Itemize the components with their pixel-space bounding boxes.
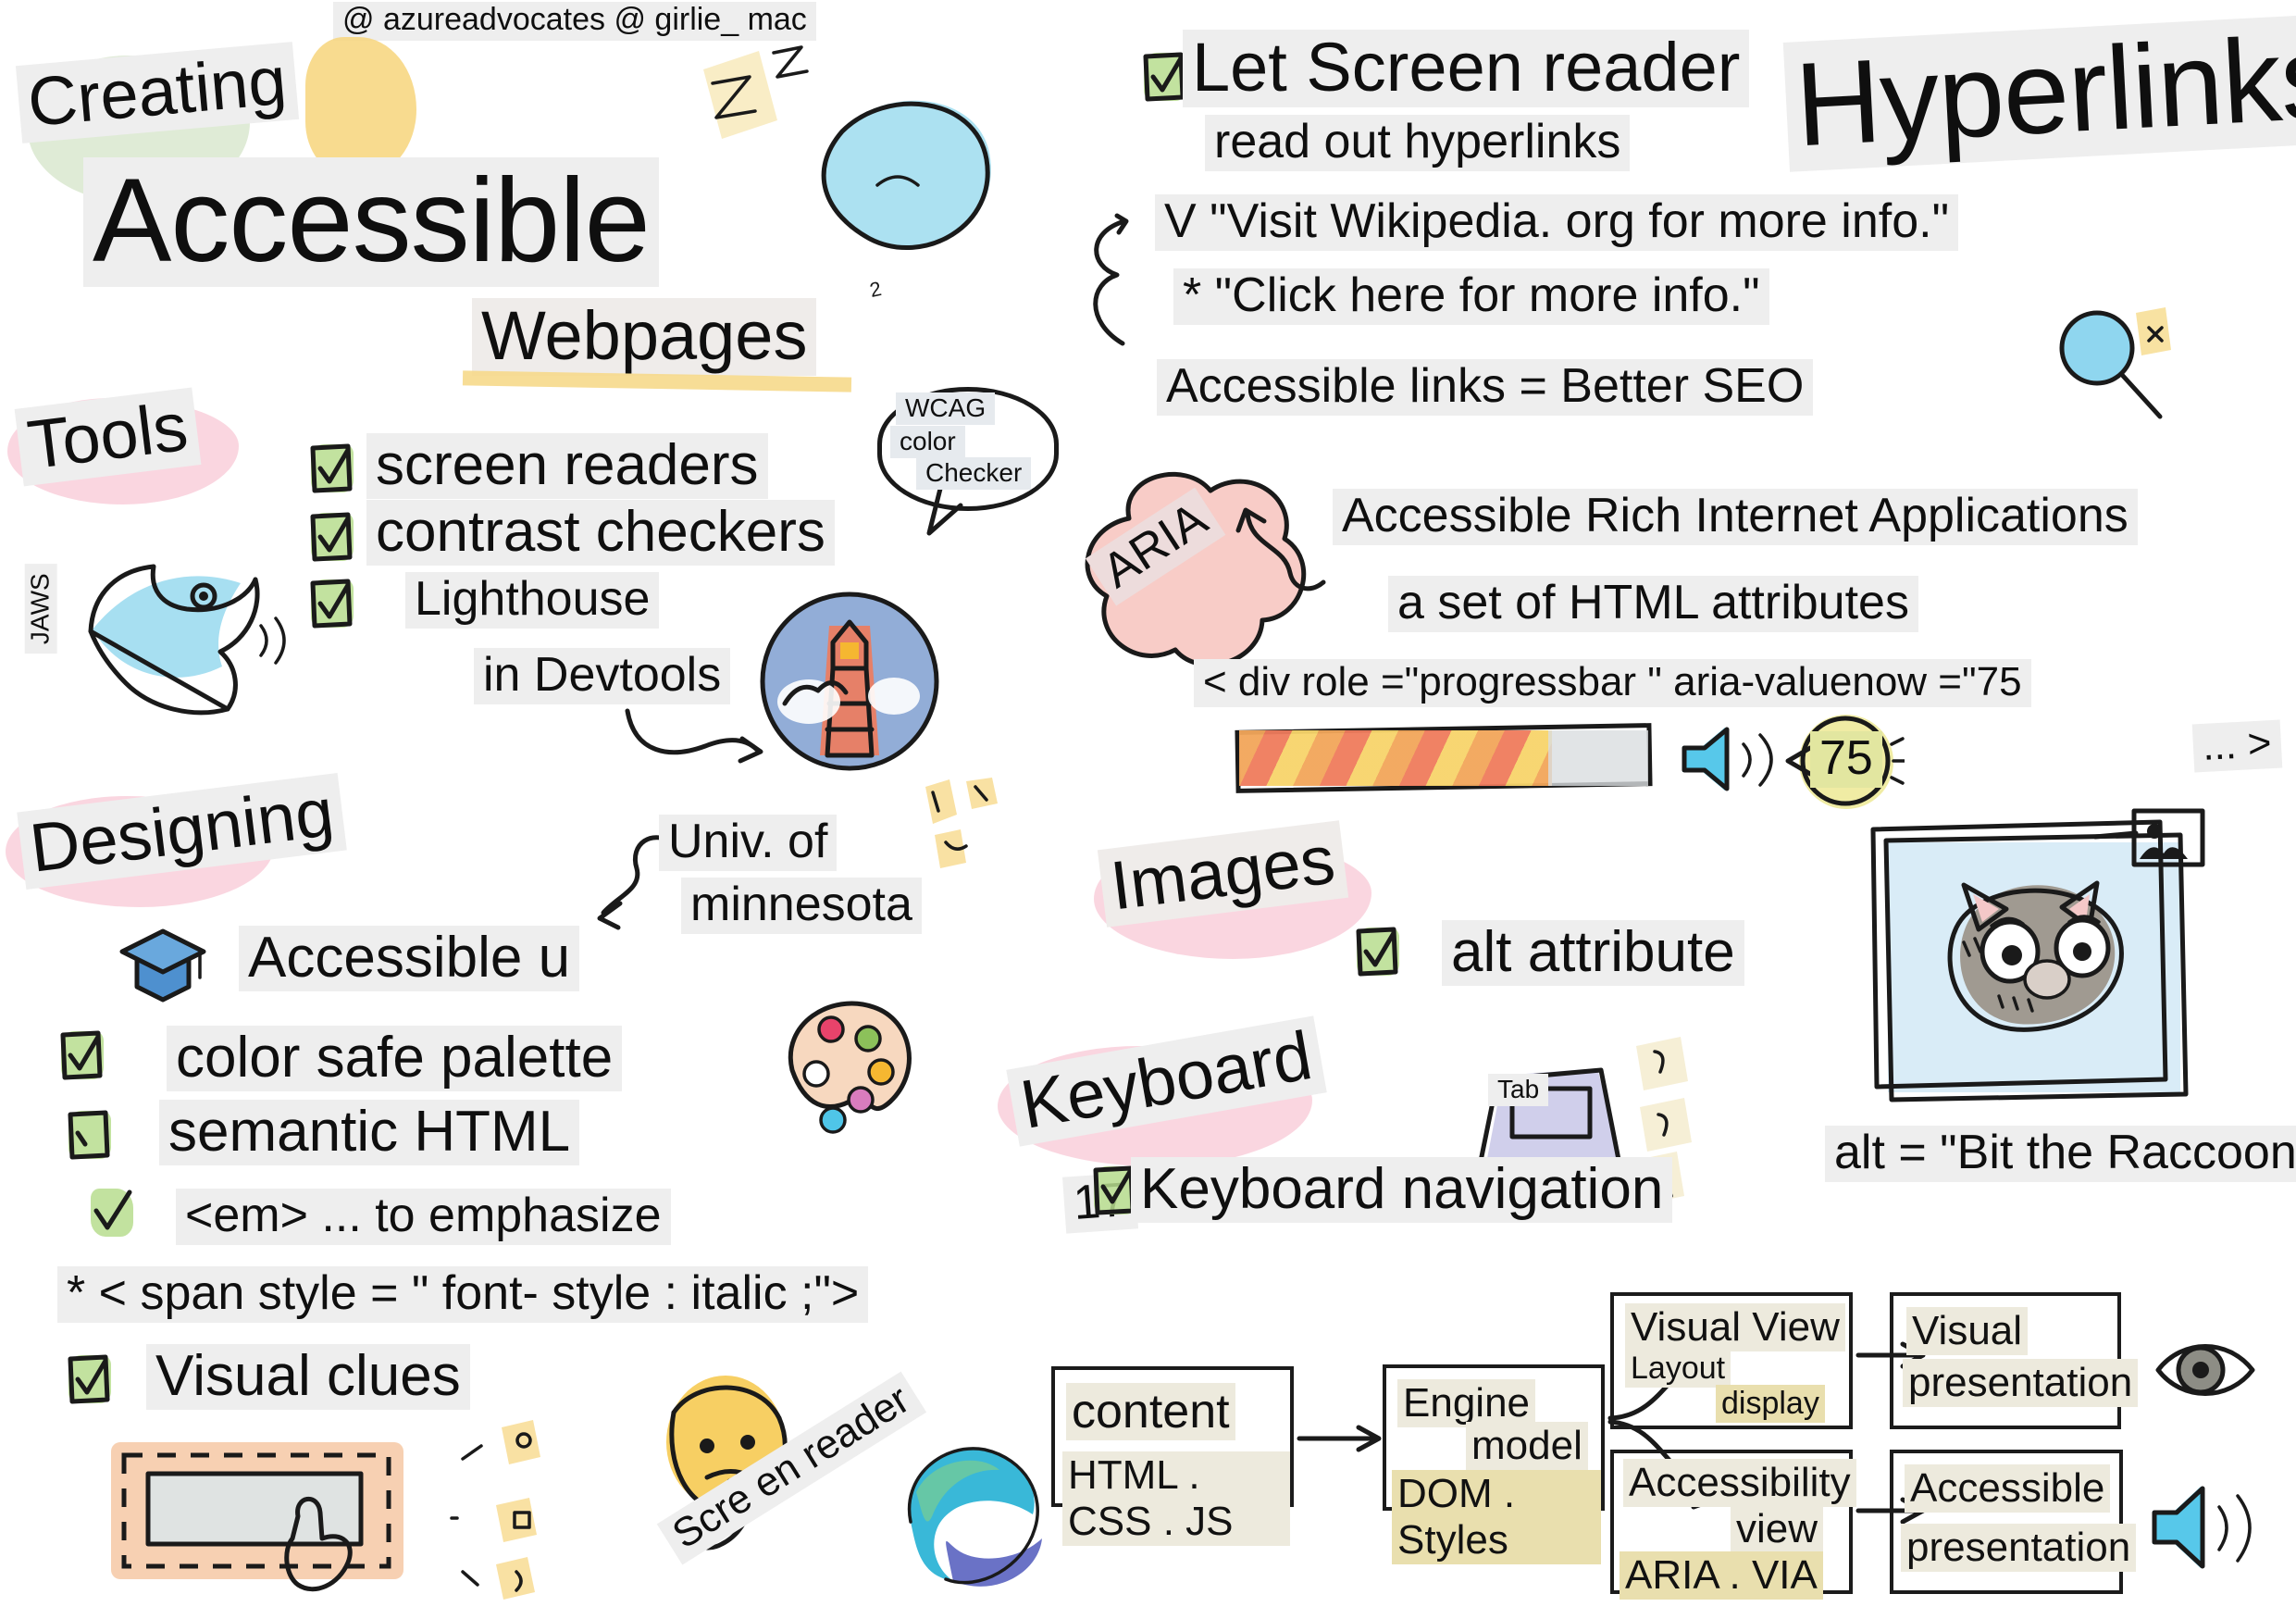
checkbox-visual-clues[interactable] <box>65 1353 113 1405</box>
flow-node-engine-model: Engine model DOM . Styles <box>1383 1364 1605 1511</box>
devtools-arrow-icon <box>620 702 777 785</box>
hyperlinks-seo: Accessible links = Better SEO <box>1157 359 1813 416</box>
course-source-line1: Univ. of <box>659 815 837 871</box>
aria-definition: a set of HTML attributes <box>1388 576 1918 632</box>
palette-icon <box>759 981 925 1148</box>
eye-icon <box>2149 1324 2260 1416</box>
title-line-creating: Creating <box>16 42 299 143</box>
jaws-label-wrap: JAWS <box>25 564 57 654</box>
designing-item-color-safe-palette: color safe palette <box>167 1026 622 1091</box>
tools-heading: Tools <box>15 388 202 487</box>
confetti-doodle-icon <box>907 778 1018 889</box>
magnifier-icon <box>2045 296 2184 444</box>
tools-lighthouse-note: in Devtools <box>474 648 730 704</box>
progress-value-badge: 75 <box>1795 711 1897 813</box>
tab-key-label: Tab <box>1488 1074 1548 1106</box>
checkbox-alt-attribute[interactable] <box>1353 926 1401 978</box>
arrow-content-to-engine <box>1294 1416 1396 1463</box>
aria-expansion: Accessible Rich Internet Applications <box>1333 489 2138 545</box>
sketchnote-canvas: @ azureadvocates @ girlie_ mac Creating … <box>0 0 2296 1619</box>
keyboard-heading: Keyboard <box>1006 1015 1326 1146</box>
flow-node-accessibility-view: Accessibility view ARIA . VIA <box>1610 1450 1853 1594</box>
course-source-line2: minnesota <box>681 878 922 934</box>
speaker-icon <box>1675 722 1786 796</box>
progressbar <box>1235 727 1652 790</box>
keyboard-item-navigation: Keyboard navigation <box>1131 1157 1672 1223</box>
tools-item-contrast-checkers: contrast checkers <box>366 500 835 566</box>
wcag-bubble-line1: WCAG <box>896 392 995 425</box>
focus-ring-sketch-icon <box>100 1427 433 1613</box>
designing-item-span-style: * < span style = " font- style : italic … <box>57 1266 868 1323</box>
shark-icon <box>65 528 305 759</box>
tools-item-screen-readers: screen readers <box>366 433 768 499</box>
designing-heading: Designing <box>17 773 347 890</box>
blue-creature-icon <box>777 74 1027 305</box>
designing-item-visual-clues: Visual clues <box>146 1344 470 1410</box>
flow-node-visual-presentation: Visual presentation <box>1890 1292 2121 1429</box>
tools-item-lighthouse: Lighthouse <box>405 572 659 629</box>
checkbox-color-safe-palette[interactable] <box>57 1029 105 1081</box>
images-alt-example: alt = "Bit the Raccoon" <box>1825 1126 2296 1182</box>
checkbox-let-screen-reader[interactable] <box>1140 51 1188 103</box>
designing-item-em: <em> ... to emphasize <box>176 1189 671 1245</box>
title-line-webpages: Webpages <box>472 298 816 376</box>
raccoon-image-frame-icon <box>1860 805 2249 1139</box>
images-item-alt-attribute: alt attribute <box>1442 920 1744 986</box>
aria-code: < div role ="progressbar " aria-valuenow… <box>1194 659 2031 707</box>
title-line-accessible: Accessible <box>83 157 659 287</box>
images-heading: Images <box>1098 820 1348 927</box>
wcag-bubble-line2: color <box>890 426 965 458</box>
checkbox-semantic-html[interactable] <box>65 1109 113 1161</box>
hyperlinks-good-example: V "Visit Wikipedia. org for more info." <box>1155 194 1958 251</box>
checkbox-screen-readers[interactable] <box>307 442 355 494</box>
flow-node-accessible-presentation: Accessible presentation <box>1890 1450 2123 1594</box>
sparkle-doodles-icon <box>435 1416 565 1601</box>
hyperlinks-heading: Hyperlinks <box>1783 13 2296 172</box>
aria-arrow-icon <box>1231 504 1342 616</box>
wcag-bubble-tail <box>912 481 996 546</box>
lighthouse-icon <box>757 589 942 774</box>
flow-node-visual-view: Visual View Layout display <box>1610 1292 1853 1429</box>
edge-browser-icon <box>888 1426 1055 1601</box>
wcag-bubble-line3: Checker <box>916 457 1031 490</box>
curly-arrow-icon <box>1069 208 1171 366</box>
hyperlinks-bad-example: * "Click here for more info." <box>1173 268 1769 325</box>
aria-code-tail: ... > <box>2192 720 2282 773</box>
hyperlinks-line1: Let Screen reader <box>1183 30 1749 107</box>
checkbox-contrast-checkers[interactable] <box>307 511 355 563</box>
designing-item-semantic-html: semantic HTML <box>159 1100 579 1165</box>
progress-value-text-wrap: 75 <box>1810 731 1882 788</box>
graduation-cap-icon <box>118 920 207 1009</box>
checkbox-em-emphasize[interactable] <box>87 1187 135 1239</box>
designing-course: Accessible u <box>239 926 579 991</box>
flow-node-content: content HTML . CSS . JS <box>1051 1366 1294 1507</box>
speaker-icon-accessible <box>2145 1477 2265 1579</box>
hyperlinks-line2: read out hyperlinks <box>1205 115 1630 171</box>
checkbox-lighthouse[interactable] <box>307 578 355 629</box>
